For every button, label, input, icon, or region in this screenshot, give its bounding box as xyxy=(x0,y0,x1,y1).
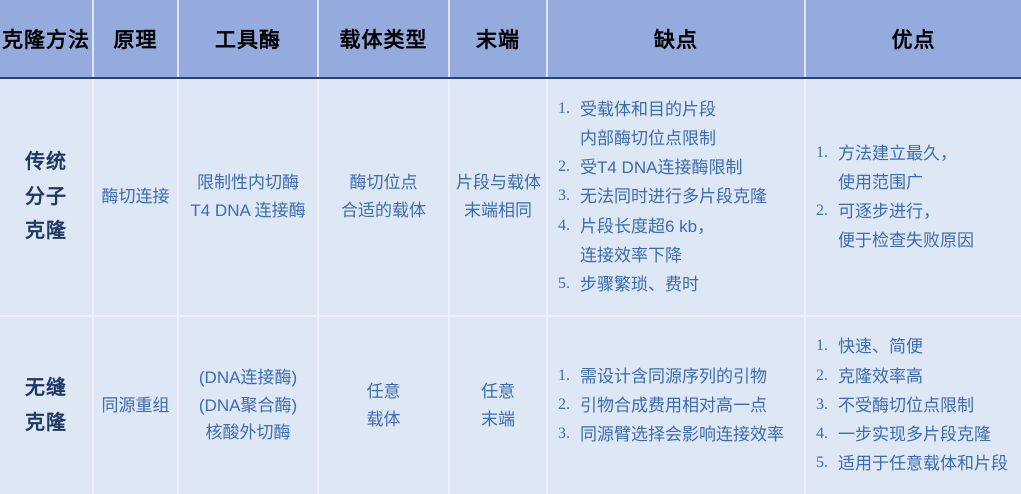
cell-principle: 同源重组 xyxy=(93,316,178,494)
list-item: 1. 方法建立最久， 使用范围广 xyxy=(816,139,1017,197)
disadvantage-list: 1. 受载体和目的片段 内部酶切位点限制 2. 受T4 DNA连接酶限制 3. … xyxy=(558,95,800,300)
cell-ends: 片段与载体 末端相同 xyxy=(449,78,547,316)
column-header-disadvantages: 缺点 xyxy=(547,0,805,78)
column-header-principle: 原理 xyxy=(93,0,178,78)
cell-disadvantages: 1. 受载体和目的片段 内部酶切位点限制 2. 受T4 DNA连接酶限制 3. … xyxy=(547,78,805,316)
table-row: 传统 分子 克隆 酶切连接 限制性内切酶 T4 DNA 连接酶 xyxy=(0,78,1021,316)
advantage-list: 1. 方法建立最久， 使用范围广 2. 可逐步进行， 便于检查失败原因 xyxy=(816,139,1017,256)
column-header-advantages: 优点 xyxy=(805,0,1021,78)
list-item: 3. 不受酶切位点限制 xyxy=(816,391,1017,420)
list-item: 1. 快速、简便 xyxy=(816,332,1017,361)
disadvantage-list: 1. 需设计含同源序列的引物 2. 引物合成费用相对高一点 3. 同源臂选择会影… xyxy=(558,362,800,450)
cell-principle: 酶切连接 xyxy=(93,78,178,316)
list-item: 5. 步骤繁琐、费时 xyxy=(558,270,800,299)
column-header-vector-type: 载体类型 xyxy=(318,0,449,78)
column-header-ends: 末端 xyxy=(449,0,547,78)
list-item: 3. 无法同时进行多片段克隆 xyxy=(558,182,800,211)
cloning-method-comparison-table: 克隆方法 原理 工具酶 载体类型 末端 缺点 优点 传统 分子 克隆 xyxy=(0,0,1021,494)
cell-advantages: 1. 快速、简便 2. 克隆效率高 3. 不受酶切位点限制 4. xyxy=(805,316,1021,494)
cell-enzyme: (DNA连接酶) (DNA聚合酶) 核酸外切酶 xyxy=(178,316,318,494)
header-row: 克隆方法 原理 工具酶 载体类型 末端 缺点 优点 xyxy=(0,0,1021,78)
table-header: 克隆方法 原理 工具酶 载体类型 末端 缺点 优点 xyxy=(0,0,1021,78)
cell-method: 无缝 克隆 xyxy=(0,316,93,494)
method-name-lines: 无缝 克隆 xyxy=(6,371,86,440)
list-item: 2. 引物合成费用相对高一点 xyxy=(558,391,800,420)
advantage-list: 1. 快速、简便 2. 克隆效率高 3. 不受酶切位点限制 4. xyxy=(816,332,1017,478)
list-item: 1. 需设计含同源序列的引物 xyxy=(558,362,800,391)
cell-vector-type: 酶切位点 合适的载体 xyxy=(318,78,449,316)
list-item: 3. 同源臂选择会影响连接效率 xyxy=(558,420,800,449)
table-body: 传统 分子 克隆 酶切连接 限制性内切酶 T4 DNA 连接酶 xyxy=(0,78,1021,494)
list-item: 4. 一步实现多片段克隆 xyxy=(816,420,1017,449)
cell-enzyme: 限制性内切酶 T4 DNA 连接酶 xyxy=(178,78,318,316)
comparison-table-container: 克隆方法 原理 工具酶 载体类型 末端 缺点 优点 传统 分子 克隆 xyxy=(0,0,1021,494)
list-item: 2. 克隆效率高 xyxy=(816,362,1017,391)
cell-vector-type: 任意 载体 xyxy=(318,316,449,494)
column-header-method: 克隆方法 xyxy=(0,0,93,78)
list-item: 1. 受载体和目的片段 内部酶切位点限制 xyxy=(558,95,800,153)
cell-method: 传统 分子 克隆 xyxy=(0,78,93,316)
list-item: 2. 受T4 DNA连接酶限制 xyxy=(558,153,800,182)
cell-advantages: 1. 方法建立最久， 使用范围广 2. 可逐步进行， 便于检查失败原因 xyxy=(805,78,1021,316)
cell-disadvantages: 1. 需设计含同源序列的引物 2. 引物合成费用相对高一点 3. 同源臂选择会影… xyxy=(547,316,805,494)
list-item: 5. 适用于任意载体和片段 xyxy=(816,449,1017,478)
method-name-lines: 传统 分子 克隆 xyxy=(6,145,86,248)
list-item: 2. 可逐步进行， 便于检查失败原因 xyxy=(816,197,1017,255)
list-item: 4. 片段长度超6 kb， 连接效率下降 xyxy=(558,212,800,270)
table-row: 无缝 克隆 同源重组 (DNA连接酶) (DNA聚合酶) 核酸外切酶 xyxy=(0,316,1021,494)
cell-ends: 任意 末端 xyxy=(449,316,547,494)
column-header-enzyme: 工具酶 xyxy=(178,0,318,78)
